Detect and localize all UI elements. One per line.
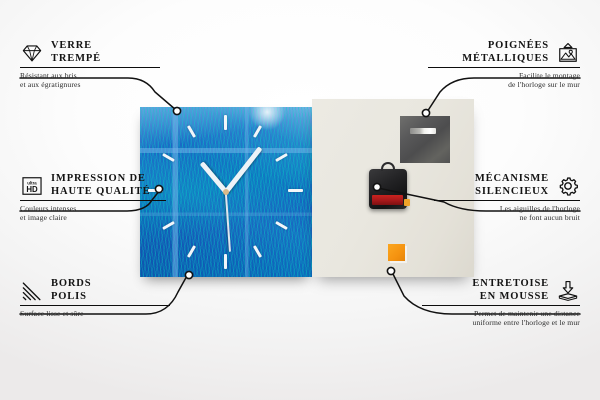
ultra-hd-bottom-text: HD bbox=[26, 184, 38, 193]
tick-mark bbox=[253, 245, 262, 258]
callout-entretoise-en-mousse: ENTRETOISE EN MOUSSE Permet de maintenir… bbox=[365, 278, 580, 328]
callout-description: Surface lisse et sûre bbox=[20, 309, 235, 319]
ultra-hd-icon: ultra HD bbox=[20, 175, 44, 197]
callout-rule bbox=[422, 305, 580, 306]
hanger-plate bbox=[400, 116, 450, 163]
movement-hook bbox=[381, 162, 395, 171]
callout-header: BORDS POLIS bbox=[20, 278, 235, 303]
infographic-canvas: VERRE TREMPÉ Résistant aux bris et aux é… bbox=[0, 0, 600, 400]
callout-rule bbox=[20, 305, 170, 306]
callout-description: Facilite le montage de l'horloge sur le … bbox=[365, 71, 580, 90]
tick-mark bbox=[288, 189, 303, 192]
callout-header: POIGNÉES MÉTALLIQUES bbox=[365, 40, 580, 65]
tick-mark bbox=[224, 254, 227, 269]
callout-header: ultra HD IMPRESSION DE HAUTE QUALITÉ bbox=[20, 173, 235, 198]
callout-title: VERRE TREMPÉ bbox=[51, 40, 101, 65]
callout-description: Résistant aux bris et aux égratignures bbox=[20, 71, 235, 90]
callout-rule bbox=[428, 67, 580, 68]
callout-rule bbox=[20, 200, 166, 201]
polished-edge-icon bbox=[20, 280, 44, 302]
foam-spacer bbox=[388, 244, 405, 261]
hanger-slot bbox=[410, 128, 436, 134]
callout-title: BORDS POLIS bbox=[51, 278, 91, 303]
callout-description: Les aiguilles de l'horloge ne font aucun… bbox=[365, 204, 580, 223]
callout-bords-polis: BORDS POLIS Surface lisse et sûre bbox=[20, 278, 235, 318]
tick-mark bbox=[275, 221, 288, 230]
diamond-icon bbox=[20, 42, 44, 64]
foam-spacer-icon bbox=[556, 280, 580, 302]
callout-description: Couleurs intenses et image claire bbox=[20, 204, 235, 223]
callout-description: Permet de maintenir une distance uniform… bbox=[365, 309, 580, 328]
tick-mark bbox=[253, 125, 262, 138]
callout-verre-trempe: VERRE TREMPÉ Résistant aux bris et aux é… bbox=[20, 40, 235, 90]
gear-icon bbox=[556, 175, 580, 197]
callout-title: MÉCANISME SILENCIEUX bbox=[475, 173, 549, 198]
callout-title: IMPRESSION DE HAUTE QUALITÉ bbox=[51, 173, 150, 198]
tick-mark bbox=[162, 153, 175, 162]
tick-mark bbox=[224, 115, 227, 130]
callout-title: POIGNÉES MÉTALLIQUES bbox=[462, 40, 549, 65]
callout-rule bbox=[434, 200, 580, 201]
callout-rule bbox=[20, 67, 160, 68]
callout-mecanisme-silencieux: MÉCANISME SILENCIEUX Les aiguilles de l'… bbox=[365, 173, 580, 223]
callout-header: VERRE TREMPÉ bbox=[20, 40, 235, 65]
tick-mark bbox=[187, 125, 196, 138]
callout-header: ENTRETOISE EN MOUSSE bbox=[365, 278, 580, 303]
callout-title: ENTRETOISE EN MOUSSE bbox=[472, 278, 549, 303]
picture-hanger-icon bbox=[556, 42, 580, 64]
tick-mark bbox=[275, 153, 288, 162]
tick-mark bbox=[187, 245, 196, 258]
callout-poignees-metalliques: POIGNÉES MÉTALLIQUES Facilite le montage… bbox=[365, 40, 580, 90]
callout-impression-haute-qualite: ultra HD IMPRESSION DE HAUTE QUALITÉ Cou… bbox=[20, 173, 235, 223]
callout-header: MÉCANISME SILENCIEUX bbox=[365, 173, 580, 198]
